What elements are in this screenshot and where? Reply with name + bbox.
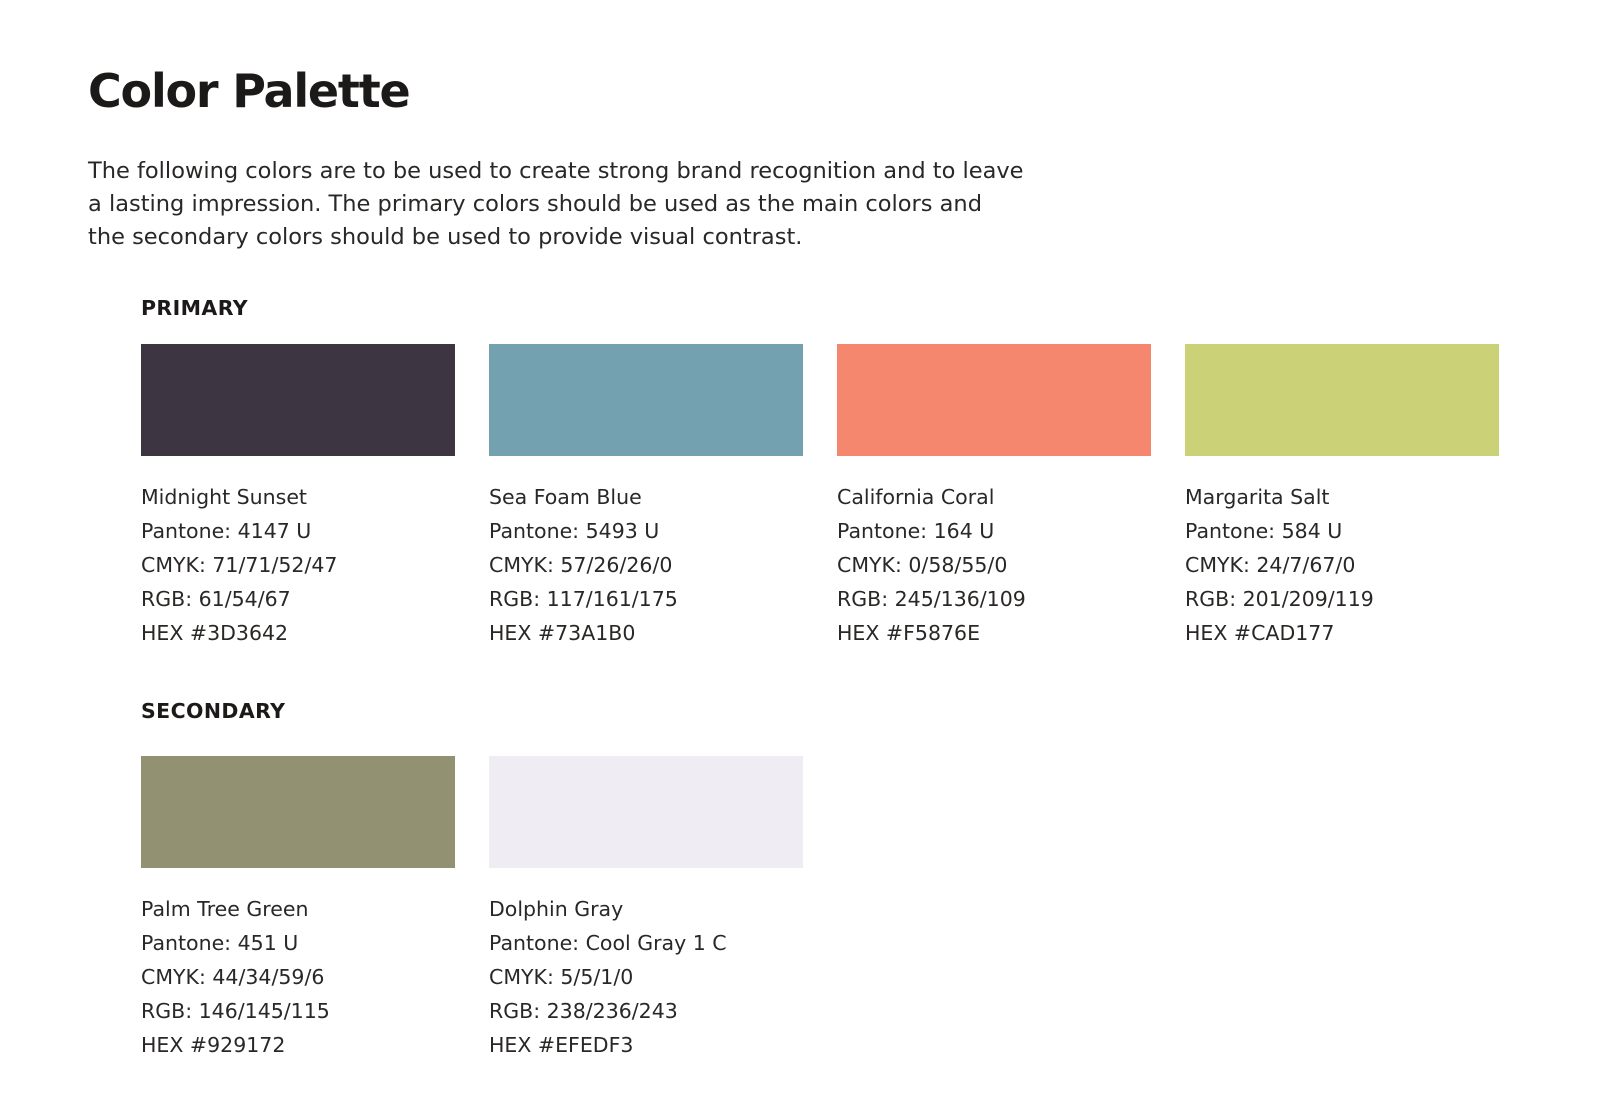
swatch-name: Sea Foam Blue: [489, 480, 803, 514]
swatch-rgb: RGB: 238/236/243: [489, 994, 803, 1028]
swatch-card: Margarita Salt Pantone: 584 U CMYK: 24/7…: [1185, 344, 1499, 650]
swatch-pantone: Pantone: 584 U: [1185, 514, 1499, 548]
page-title: Color Palette: [88, 67, 410, 115]
swatch-pantone: Pantone: 164 U: [837, 514, 1151, 548]
section-heading-secondary: SECONDARY: [141, 699, 285, 723]
color-chip: [141, 344, 455, 456]
swatch-info: Midnight Sunset Pantone: 4147 U CMYK: 71…: [141, 480, 455, 650]
color-chip: [837, 344, 1151, 456]
swatch-pantone: Pantone: 4147 U: [141, 514, 455, 548]
color-chip: [489, 756, 803, 868]
swatch-hex: HEX #CAD177: [1185, 616, 1499, 650]
swatch-rgb: RGB: 245/136/109: [837, 582, 1151, 616]
intro-line: a lasting impression. The primary colors…: [88, 188, 988, 221]
swatch-cmyk: CMYK: 57/26/26/0: [489, 548, 803, 582]
swatch-hex: HEX #F5876E: [837, 616, 1151, 650]
swatch-hex: HEX #3D3642: [141, 616, 455, 650]
swatch-hex: HEX #929172: [141, 1028, 455, 1062]
swatch-card: Dolphin Gray Pantone: Cool Gray 1 C CMYK…: [489, 756, 803, 1062]
color-chip: [141, 756, 455, 868]
color-chip: [1185, 344, 1499, 456]
secondary-swatch-row: Palm Tree Green Pantone: 451 U CMYK: 44/…: [141, 756, 1501, 1062]
swatch-name: Margarita Salt: [1185, 480, 1499, 514]
swatch-info: Palm Tree Green Pantone: 451 U CMYK: 44/…: [141, 892, 455, 1062]
swatch-cmyk: CMYK: 0/58/55/0: [837, 548, 1151, 582]
swatch-card: California Coral Pantone: 164 U CMYK: 0/…: [837, 344, 1151, 650]
color-palette-document: Color Palette The following colors are t…: [0, 0, 1600, 1100]
swatch-name: Palm Tree Green: [141, 892, 455, 926]
swatch-name: Midnight Sunset: [141, 480, 455, 514]
swatch-pantone: Pantone: 451 U: [141, 926, 455, 960]
swatch-hex: HEX #73A1B0: [489, 616, 803, 650]
swatch-info: Dolphin Gray Pantone: Cool Gray 1 C CMYK…: [489, 892, 803, 1062]
swatch-rgb: RGB: 201/209/119: [1185, 582, 1499, 616]
swatch-name: Dolphin Gray: [489, 892, 803, 926]
swatch-info: California Coral Pantone: 164 U CMYK: 0/…: [837, 480, 1151, 650]
swatch-hex: HEX #EFEDF3: [489, 1028, 803, 1062]
swatch-card: Midnight Sunset Pantone: 4147 U CMYK: 71…: [141, 344, 455, 650]
swatch-card: Palm Tree Green Pantone: 451 U CMYK: 44/…: [141, 756, 455, 1062]
swatch-pantone: Pantone: Cool Gray 1 C: [489, 926, 803, 960]
intro-paragraph: The following colors are to be used to c…: [88, 155, 988, 254]
swatch-pantone: Pantone: 5493 U: [489, 514, 803, 548]
swatch-info: Margarita Salt Pantone: 584 U CMYK: 24/7…: [1185, 480, 1499, 650]
swatch-cmyk: CMYK: 71/71/52/47: [141, 548, 455, 582]
swatch-rgb: RGB: 146/145/115: [141, 994, 455, 1028]
primary-swatch-row: Midnight Sunset Pantone: 4147 U CMYK: 71…: [141, 344, 1501, 650]
swatch-rgb: RGB: 117/161/175: [489, 582, 803, 616]
color-chip: [489, 344, 803, 456]
swatch-cmyk: CMYK: 44/34/59/6: [141, 960, 455, 994]
swatch-card: Sea Foam Blue Pantone: 5493 U CMYK: 57/2…: [489, 344, 803, 650]
intro-line: The following colors are to be used to c…: [88, 155, 988, 188]
swatch-info: Sea Foam Blue Pantone: 5493 U CMYK: 57/2…: [489, 480, 803, 650]
swatch-rgb: RGB: 61/54/67: [141, 582, 455, 616]
intro-line: the secondary colors should be used to p…: [88, 221, 988, 254]
swatch-name: California Coral: [837, 480, 1151, 514]
swatch-cmyk: CMYK: 24/7/67/0: [1185, 548, 1499, 582]
section-heading-primary: PRIMARY: [141, 296, 248, 320]
swatch-cmyk: CMYK: 5/5/1/0: [489, 960, 803, 994]
